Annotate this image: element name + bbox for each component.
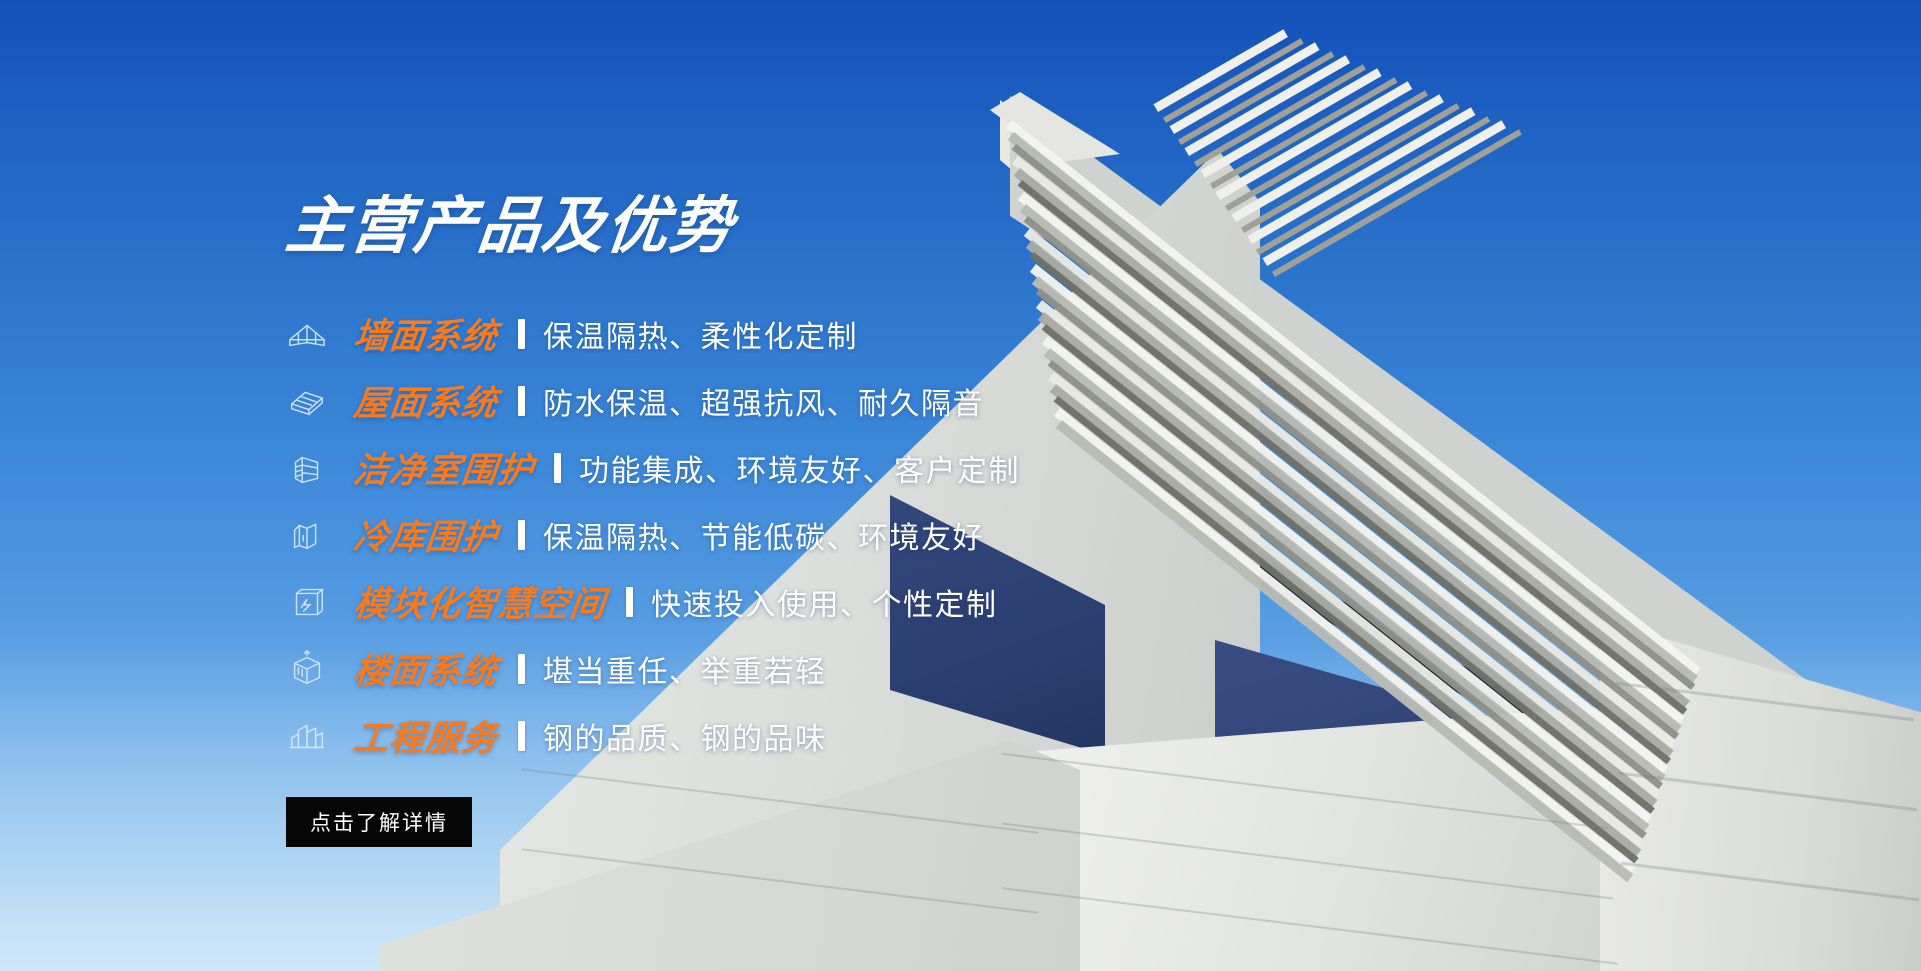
product-name: 模块化智慧空间 bbox=[351, 576, 608, 627]
product-row[interactable]: 楼面系统堪当重任、举重若轻 bbox=[286, 635, 1146, 702]
learn-more-button[interactable]: 点击了解详情 bbox=[286, 797, 472, 847]
product-row[interactable]: 工程服务钢的品质、钢的品味 bbox=[286, 702, 1146, 769]
wall-system-icon bbox=[286, 313, 328, 355]
product-name: 墙面系统 bbox=[351, 308, 500, 359]
product-row[interactable]: 墙面系统保温隔热、柔性化定制 bbox=[286, 300, 1146, 367]
product-row[interactable]: 洁净室围护功能集成、环境友好、客户定制 bbox=[286, 434, 1146, 501]
product-list: 墙面系统保温隔热、柔性化定制屋面系统防水保温、超强抗风、耐久隔音洁净室围护功能集… bbox=[286, 300, 1146, 769]
product-separator bbox=[518, 520, 525, 550]
product-name: 冷库围护 bbox=[351, 509, 500, 560]
product-name: 屋面系统 bbox=[351, 375, 500, 426]
engineering-service-icon bbox=[286, 715, 328, 757]
product-separator bbox=[626, 587, 633, 617]
product-separator bbox=[518, 386, 525, 416]
product-separator bbox=[518, 654, 525, 684]
cold-storage-icon bbox=[286, 514, 328, 556]
product-row[interactable]: 屋面系统防水保温、超强抗风、耐久隔音 bbox=[286, 367, 1146, 434]
product-description: 防水保温、超强抗风、耐久隔音 bbox=[543, 379, 984, 423]
product-name: 工程服务 bbox=[351, 710, 500, 761]
product-row[interactable]: 冷库围护保温隔热、节能低碳、环境友好 bbox=[286, 501, 1146, 568]
floor-system-icon bbox=[286, 648, 328, 690]
product-description: 保温隔热、柔性化定制 bbox=[543, 312, 858, 356]
product-description: 功能集成、环境友好、客户定制 bbox=[579, 446, 1020, 490]
roof-system-icon bbox=[286, 380, 328, 422]
hero-content: 主营产品及优势 墙面系统保温隔热、柔性化定制屋面系统防水保温、超强抗风、耐久隔音… bbox=[0, 0, 1000, 971]
product-name: 洁净室围护 bbox=[351, 442, 536, 493]
product-description: 快速投入使用、个性定制 bbox=[651, 580, 998, 624]
product-description: 钢的品质、钢的品味 bbox=[543, 714, 827, 758]
modular-space-icon bbox=[286, 581, 328, 623]
product-separator bbox=[518, 319, 525, 349]
product-separator bbox=[518, 721, 525, 751]
product-row[interactable]: 模块化智慧空间快速投入使用、个性定制 bbox=[286, 568, 1146, 635]
cleanroom-icon bbox=[286, 447, 328, 489]
product-separator bbox=[554, 453, 561, 483]
product-description: 堪当重任、举重若轻 bbox=[543, 647, 827, 691]
product-name: 楼面系统 bbox=[351, 643, 500, 694]
page-title: 主营产品及优势 bbox=[283, 196, 738, 258]
hero-banner: 主营产品及优势 墙面系统保温隔热、柔性化定制屋面系统防水保温、超强抗风、耐久隔音… bbox=[0, 0, 1921, 971]
product-description: 保温隔热、节能低碳、环境友好 bbox=[543, 513, 984, 557]
